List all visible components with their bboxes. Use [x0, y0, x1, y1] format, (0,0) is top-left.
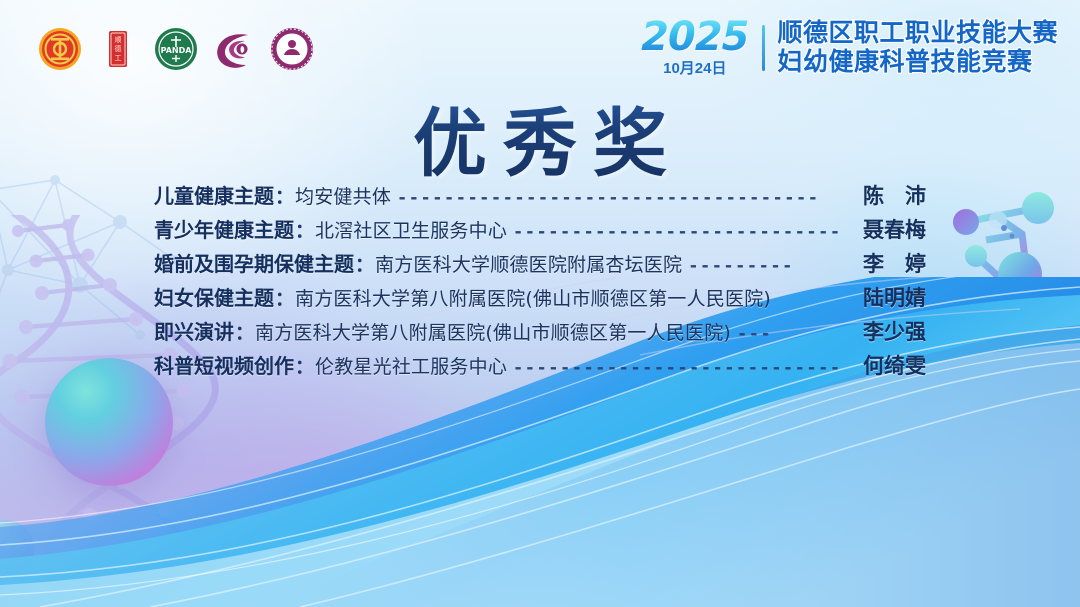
winner-name: 李少强	[840, 316, 926, 346]
winner-row: 即兴演讲 ： 南方医科大学第八附属医院(佛山市顺德区第一人民医院) --- 李少…	[0, 316, 1080, 350]
winner-row: 婚前及围孕期保健主题 ： 南方医科大学顺德医院附属杏坛医院 --------- …	[0, 248, 1080, 282]
winner-name: 李 婷	[840, 248, 926, 278]
event-title-line-2: 妇幼健康科普技能竞赛	[777, 49, 1058, 76]
winner-leader-dots: -----------------------------	[507, 222, 840, 242]
winner-colon: ：	[274, 284, 295, 311]
winner-category: 儿童健康主题	[154, 180, 274, 209]
event-header: 2025 10月24日 顺德区职工职业技能大赛 妇幼健康科普技能竞赛	[641, 18, 1058, 78]
event-date-block: 2025 10月24日	[641, 18, 760, 78]
winner-organization: 均安健共体	[295, 182, 391, 209]
winner-category: 即兴演讲	[154, 316, 234, 345]
winner-organization: 北滘社区卫生服务中心	[315, 216, 507, 243]
winner-name: 陆明婧	[840, 282, 926, 312]
event-year: 2025	[641, 18, 748, 56]
winner-row: 妇女保健主题 ： 南方医科大学第八附属医院(佛山市顺德区第一人民医院) 陆明婧	[0, 282, 1080, 316]
winner-row: 科普短视频创作 ： 伦教星光社工服务中心 -------------------…	[0, 350, 1080, 384]
header-divider	[762, 25, 765, 71]
winner-row: 儿童健康主题 ： 均安健共体 -------------------------…	[0, 180, 1080, 214]
winner-colon: ：	[234, 318, 255, 345]
winner-colon: ：	[294, 216, 315, 243]
winner-colon: ：	[274, 182, 295, 209]
event-title-line-1: 顺德区职工职业技能大赛	[777, 20, 1058, 47]
winner-category: 婚前及围孕期保健主题	[154, 248, 354, 277]
event-date: 10月24日	[663, 57, 726, 78]
union-emblem-logo	[38, 27, 82, 71]
svg-text:顺: 顺	[115, 36, 122, 44]
winner-leader-dots: ------------------------------	[507, 358, 840, 378]
winner-leader-dots: ---------	[682, 256, 840, 276]
winner-leader-dots: ------------------------------------	[391, 188, 840, 208]
winner-name: 陈 沛	[840, 180, 926, 210]
winner-organization: 南方医科大学第八附属医院(佛山市顺德区第一人民医院)	[295, 284, 771, 311]
purple-circle-logo	[270, 27, 314, 71]
award-title: 优秀奖	[0, 84, 1080, 191]
winner-name: 何绮雯	[840, 350, 926, 380]
panda-green-logo: PANDA	[154, 27, 198, 71]
winner-organization: 南方医科大学第八附属医院(佛山市顺德区第一人民医院)	[255, 318, 731, 345]
winner-category: 科普短视频创作	[154, 350, 294, 379]
winner-leader-dots: ---	[731, 324, 840, 344]
winner-colon: ：	[294, 352, 315, 379]
winner-organization: 伦教星光社工服务中心	[315, 352, 507, 379]
winner-name: 聂春梅	[840, 214, 926, 244]
winner-row: 青少年健康主题 ： 北滘社区卫生服务中心 -------------------…	[0, 214, 1080, 248]
winner-category: 青少年健康主题	[154, 214, 294, 243]
red-seal-logo: 顺德工	[96, 27, 140, 71]
purple-swoosh-logo	[212, 27, 256, 71]
svg-text:工: 工	[115, 54, 122, 62]
winner-colon: ：	[354, 250, 375, 277]
winner-organization: 南方医科大学顺德医院附属杏坛医院	[375, 250, 682, 277]
event-title-lines: 顺德区职工职业技能大赛 妇幼健康科普技能竞赛	[777, 20, 1058, 76]
svg-text:PANDA: PANDA	[161, 46, 193, 55]
poster-canvas: 顺德工 PANDA	[0, 0, 1080, 607]
sponsor-logos: 顺德工 PANDA	[38, 27, 314, 71]
svg-text:德: 德	[115, 44, 122, 53]
winners-list: 儿童健康主题 ： 均安健共体 -------------------------…	[0, 180, 1080, 384]
winner-category: 妇女保健主题	[154, 282, 274, 311]
